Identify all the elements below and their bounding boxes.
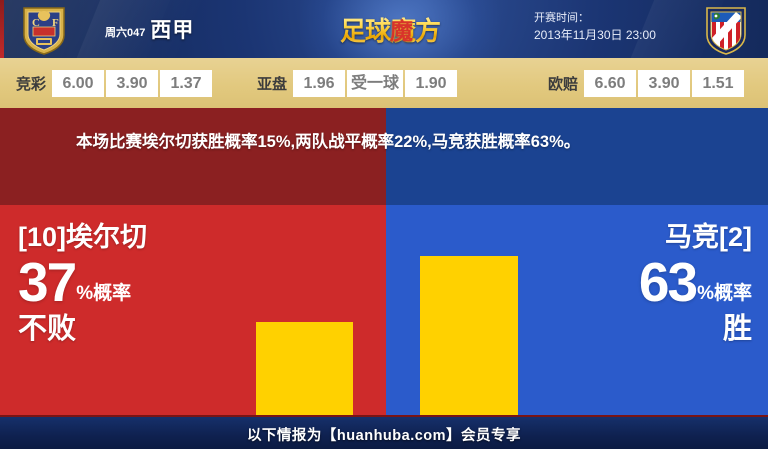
away-probability-row: 63 %概率 <box>528 255 752 310</box>
odds-group-jingcai: 竞彩 6.00 3.90 1.37 <box>16 70 214 97</box>
atletico-madrid-crest-icon <box>702 5 750 55</box>
bar-away-probability <box>420 256 518 415</box>
odds-group-oupei: 欧赔 6.60 3.90 1.51 <box>548 70 746 97</box>
odds-cell-home[interactable]: 6.00 <box>52 70 104 97</box>
home-probability-value: 37 <box>18 255 75 310</box>
odds-bar: 竞彩 6.00 3.90 1.37 亚盘 1.96 受一球 1.90 欧赔 6.… <box>0 58 768 108</box>
odds-cell-home[interactable]: 6.60 <box>584 70 636 97</box>
footer-bar: 以下情报为【huanhuba.com】会员专享 <box>0 415 768 449</box>
kickoff-value: 2013年11月30日 23:00 <box>534 27 656 44</box>
odds-cell-home[interactable]: 1.96 <box>293 70 345 97</box>
odds-group-label: 竞彩 <box>16 73 46 94</box>
probability-chart: [10]埃尔切 37 %概率 不败 马竞[2] 63 %概率 胜 <box>0 205 768 415</box>
away-panel: 马竞[2] 63 %概率 胜 <box>528 221 752 347</box>
kickoff-time: 开赛时间： 2013年11月30日 23:00 <box>534 10 656 44</box>
league-info: 周六047 西甲 <box>105 11 194 47</box>
summary-band: 本场比赛埃尔切获胜概率15%,两队战平概率22%,马竞获胜概率63%。 <box>0 108 768 205</box>
odds-group-yapan: 亚盘 1.96 受一球 1.90 <box>257 70 459 97</box>
odds-cell-draw[interactable]: 3.90 <box>106 70 158 97</box>
odds-cell-away[interactable]: 1.90 <box>405 70 457 97</box>
site-logo-accent-char: 魔 <box>390 12 413 46</box>
header-bar: C F <box>0 0 768 58</box>
home-probability-row: 37 %概率 <box>18 255 238 310</box>
away-probability-value: 63 <box>639 255 696 310</box>
elche-cf-crest-icon: C F <box>20 5 68 55</box>
away-team-name: 马竞[2] <box>528 221 752 253</box>
home-team-name: [10]埃尔切 <box>18 221 238 253</box>
odds-cell-away[interactable]: 1.37 <box>160 70 212 97</box>
bar-home-probability <box>256 322 353 415</box>
site-logo[interactable]: 足球魔方 魔 <box>330 8 450 50</box>
odds-cell-handicap[interactable]: 受一球 <box>347 70 403 97</box>
kickoff-label: 开赛时间： <box>534 10 656 27</box>
odds-group-label: 欧赔 <box>548 73 578 94</box>
home-outcome-label: 不败 <box>18 311 238 347</box>
away-outcome-label: 胜 <box>528 311 752 347</box>
away-probability-unit: %概率 <box>697 284 752 310</box>
home-probability-unit: %概率 <box>76 284 131 310</box>
round-label: 周六047 <box>105 24 145 40</box>
odds-group-label: 亚盘 <box>257 73 287 94</box>
match-probability-infographic: C F <box>0 0 768 449</box>
home-panel: [10]埃尔切 37 %概率 不败 <box>18 221 238 347</box>
odds-cell-away[interactable]: 1.51 <box>692 70 744 97</box>
summary-text: 本场比赛埃尔切获胜概率15%,两队战平概率22%,马竞获胜概率63%。 <box>76 128 716 157</box>
league-name: 西甲 <box>150 14 194 44</box>
odds-cell-draw[interactable]: 3.90 <box>638 70 690 97</box>
footer-text: 以下情报为【huanhuba.com】会员专享 <box>247 424 521 445</box>
